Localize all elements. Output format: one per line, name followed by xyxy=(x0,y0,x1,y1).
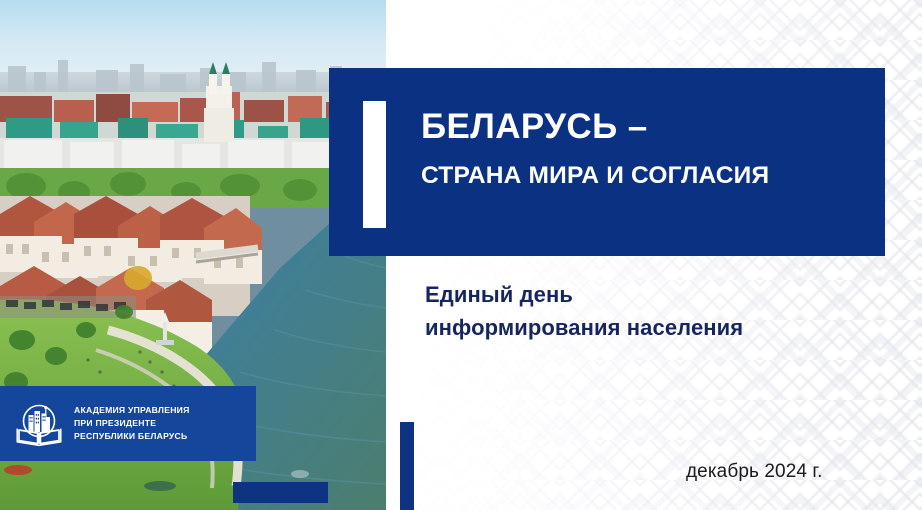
academy-name-line-3: РЕСПУБЛИКИ БЕЛАРУСЬ xyxy=(74,430,190,443)
slide-date: декабрь 2024 г. xyxy=(686,461,823,483)
decorative-vertical-bar xyxy=(400,422,414,510)
academy-name-line-2: ПРИ ПРЕЗИДЕНТЕ xyxy=(74,417,190,430)
title-text-group: БЕЛАРУСЬ – СТРАНА МИРА И СОГЛАСИЯ xyxy=(421,106,867,191)
academy-logo-banner: АКАДЕМИЯ УПРАВЛЕНИЯ ПРИ ПРЕЗИДЕНТЕ РЕСПУ… xyxy=(0,386,256,461)
academy-name-line-1: АКАДЕМИЯ УПРАВЛЕНИЯ xyxy=(74,404,190,417)
decorative-small-bar xyxy=(233,482,328,503)
event-line-2: информирования населения xyxy=(425,312,743,345)
open-book-city-emblem-icon xyxy=(15,400,63,448)
presentation-slide: БЕЛАРУСЬ – СТРАНА МИРА И СОГЛАСИЯ Единый… xyxy=(0,0,922,510)
event-subtitle: Единый день информирования населения xyxy=(425,279,743,344)
event-line-1: Единый день xyxy=(425,279,743,312)
title-block: БЕЛАРУСЬ – СТРАНА МИРА И СОГЛАСИЯ xyxy=(329,68,885,256)
title-accent-bar xyxy=(363,101,386,228)
academy-logo-text: АКАДЕМИЯ УПРАВЛЕНИЯ ПРИ ПРЕЗИДЕНТЕ РЕСПУ… xyxy=(74,404,190,444)
title-line-1: БЕЛАРУСЬ – xyxy=(421,106,867,147)
title-line-2: СТРАНА МИРА И СОГЛАСИЯ xyxy=(421,161,867,190)
